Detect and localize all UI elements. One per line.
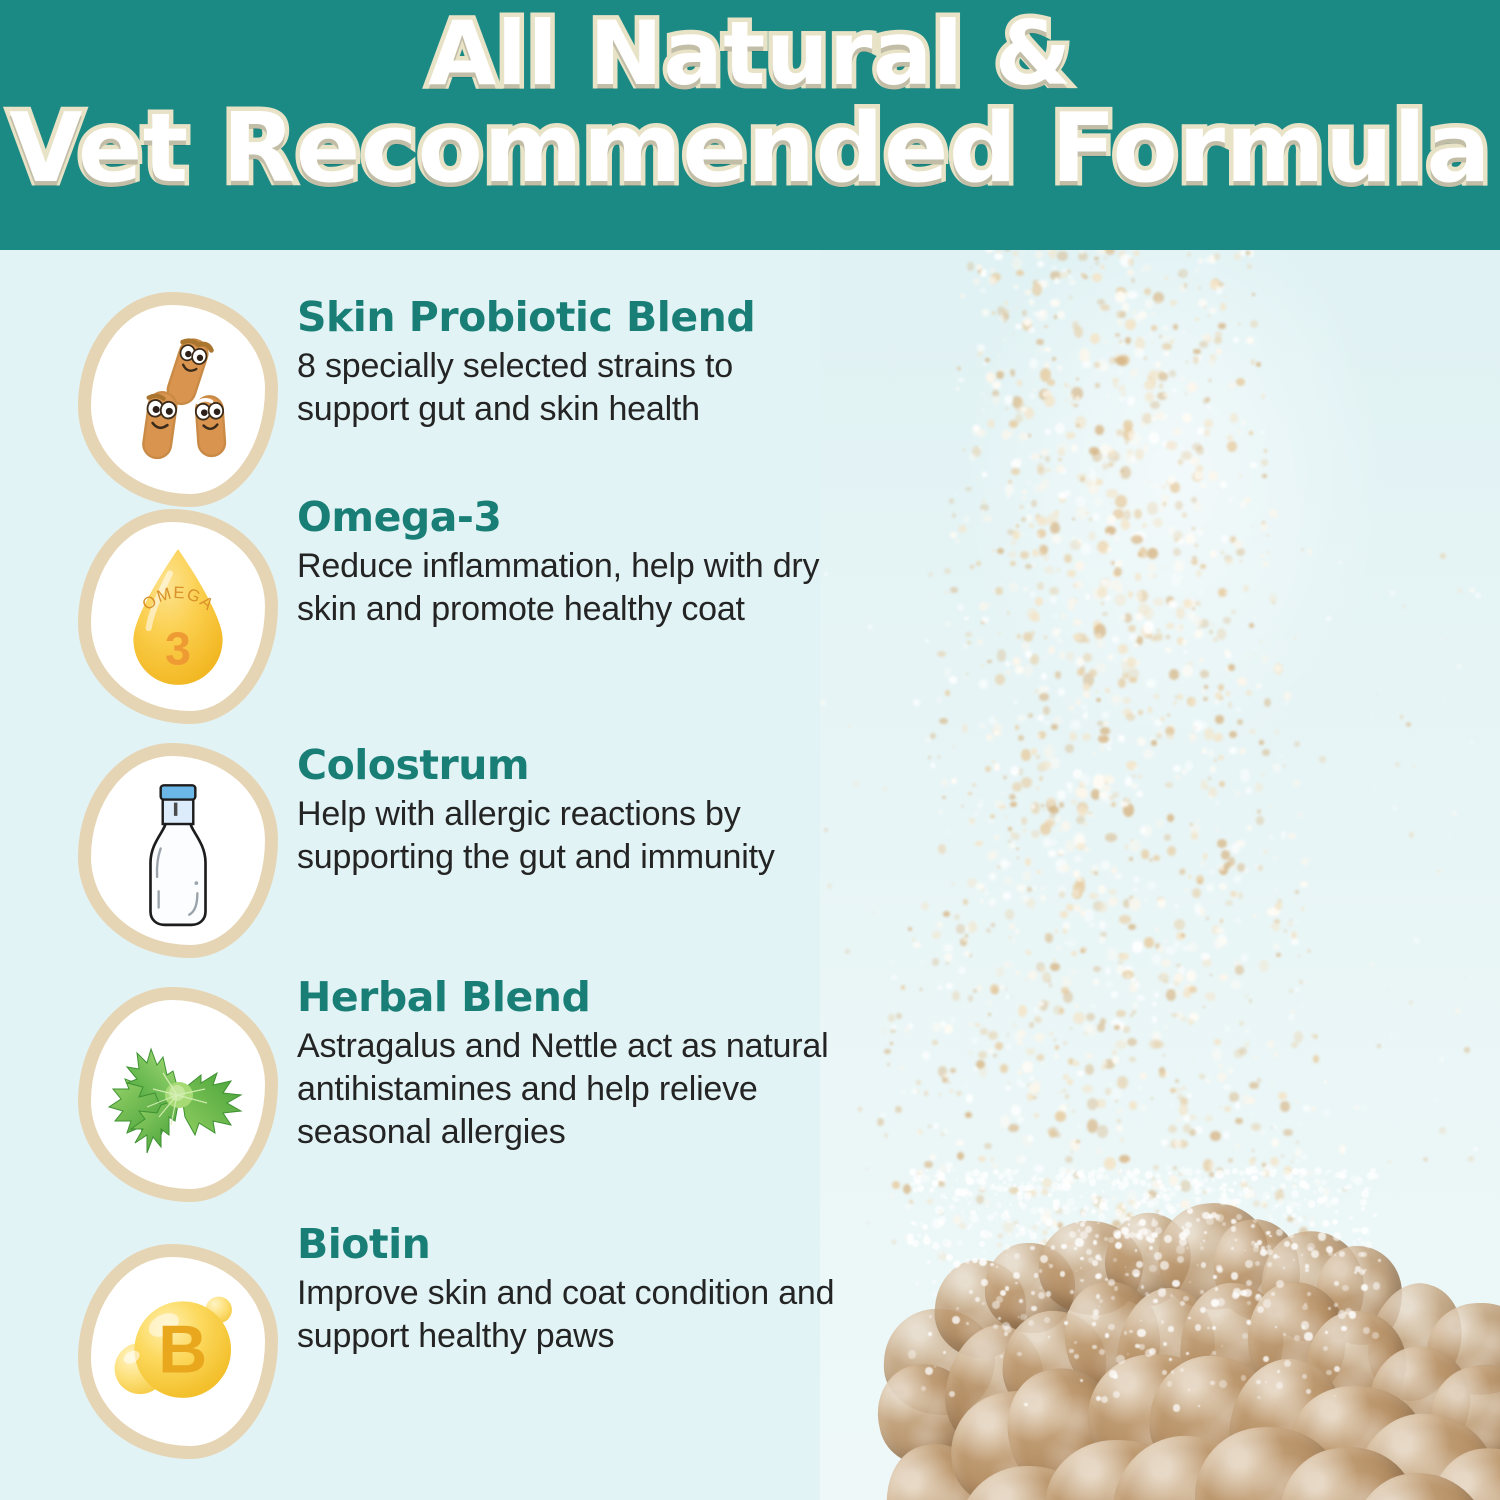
kibble-pile-icon xyxy=(820,1170,1500,1500)
feature-body: Reduce inflammation, help with dry skin … xyxy=(297,545,852,631)
feature-list: Skin Probiotic Blend 8 specially selecte… xyxy=(0,250,860,1500)
feature-icon-badge xyxy=(78,743,278,958)
biotin-capsule-icon: B xyxy=(94,1260,262,1443)
feature-body: Improve skin and coat condition and supp… xyxy=(297,1272,852,1358)
svg-text:3: 3 xyxy=(165,622,191,674)
feature-text: Biotin Improve skin and coat condition a… xyxy=(297,1222,852,1358)
feature-title: Skin Probiotic Blend xyxy=(297,295,852,341)
svg-text:B: B xyxy=(158,1311,207,1387)
probiotic-bacteria-icon xyxy=(94,308,262,491)
feature-title: Colostrum xyxy=(297,743,852,789)
omega-3-droplet-icon: OMEGA 3 xyxy=(94,525,262,708)
feature-title: Biotin xyxy=(297,1222,852,1268)
product-infographic: All Natural & Vet Recommended Formula xyxy=(0,0,1500,1500)
feature-title: Omega-3 xyxy=(297,495,852,541)
product-photo xyxy=(820,250,1500,1500)
page-title: All Natural & Vet Recommended Formula xyxy=(0,8,1500,198)
feature-body: Help with allergic reactions by supporti… xyxy=(297,793,852,879)
feature-text: Colostrum Help with allergic reactions b… xyxy=(297,743,852,879)
feature-text: Omega-3 Reduce inflammation, help with d… xyxy=(297,495,852,631)
title-line-2: Vet Recommended Formula xyxy=(0,100,1500,199)
header-band: All Natural & Vet Recommended Formula xyxy=(0,0,1500,250)
feature-text: Skin Probiotic Blend 8 specially selecte… xyxy=(297,295,852,431)
title-line-1: All Natural & xyxy=(0,8,1500,100)
milk-bottle-icon xyxy=(94,759,262,942)
feature-icon-badge: OMEGA 3 xyxy=(78,509,278,724)
feature-title: Herbal Blend xyxy=(297,975,852,1021)
feature-icon-badge: B xyxy=(78,1244,278,1459)
feature-icon-badge xyxy=(78,292,278,507)
feature-icon-badge xyxy=(78,987,278,1202)
feature-text: Herbal Blend Astragalus and Nettle act a… xyxy=(297,975,852,1154)
nettle-leaves-icon xyxy=(94,1003,262,1186)
falling-powder-icon xyxy=(860,250,1360,1250)
feature-body: Astragalus and Nettle act as natural ant… xyxy=(297,1025,852,1155)
feature-body: 8 specially selected strains to support … xyxy=(297,345,852,431)
